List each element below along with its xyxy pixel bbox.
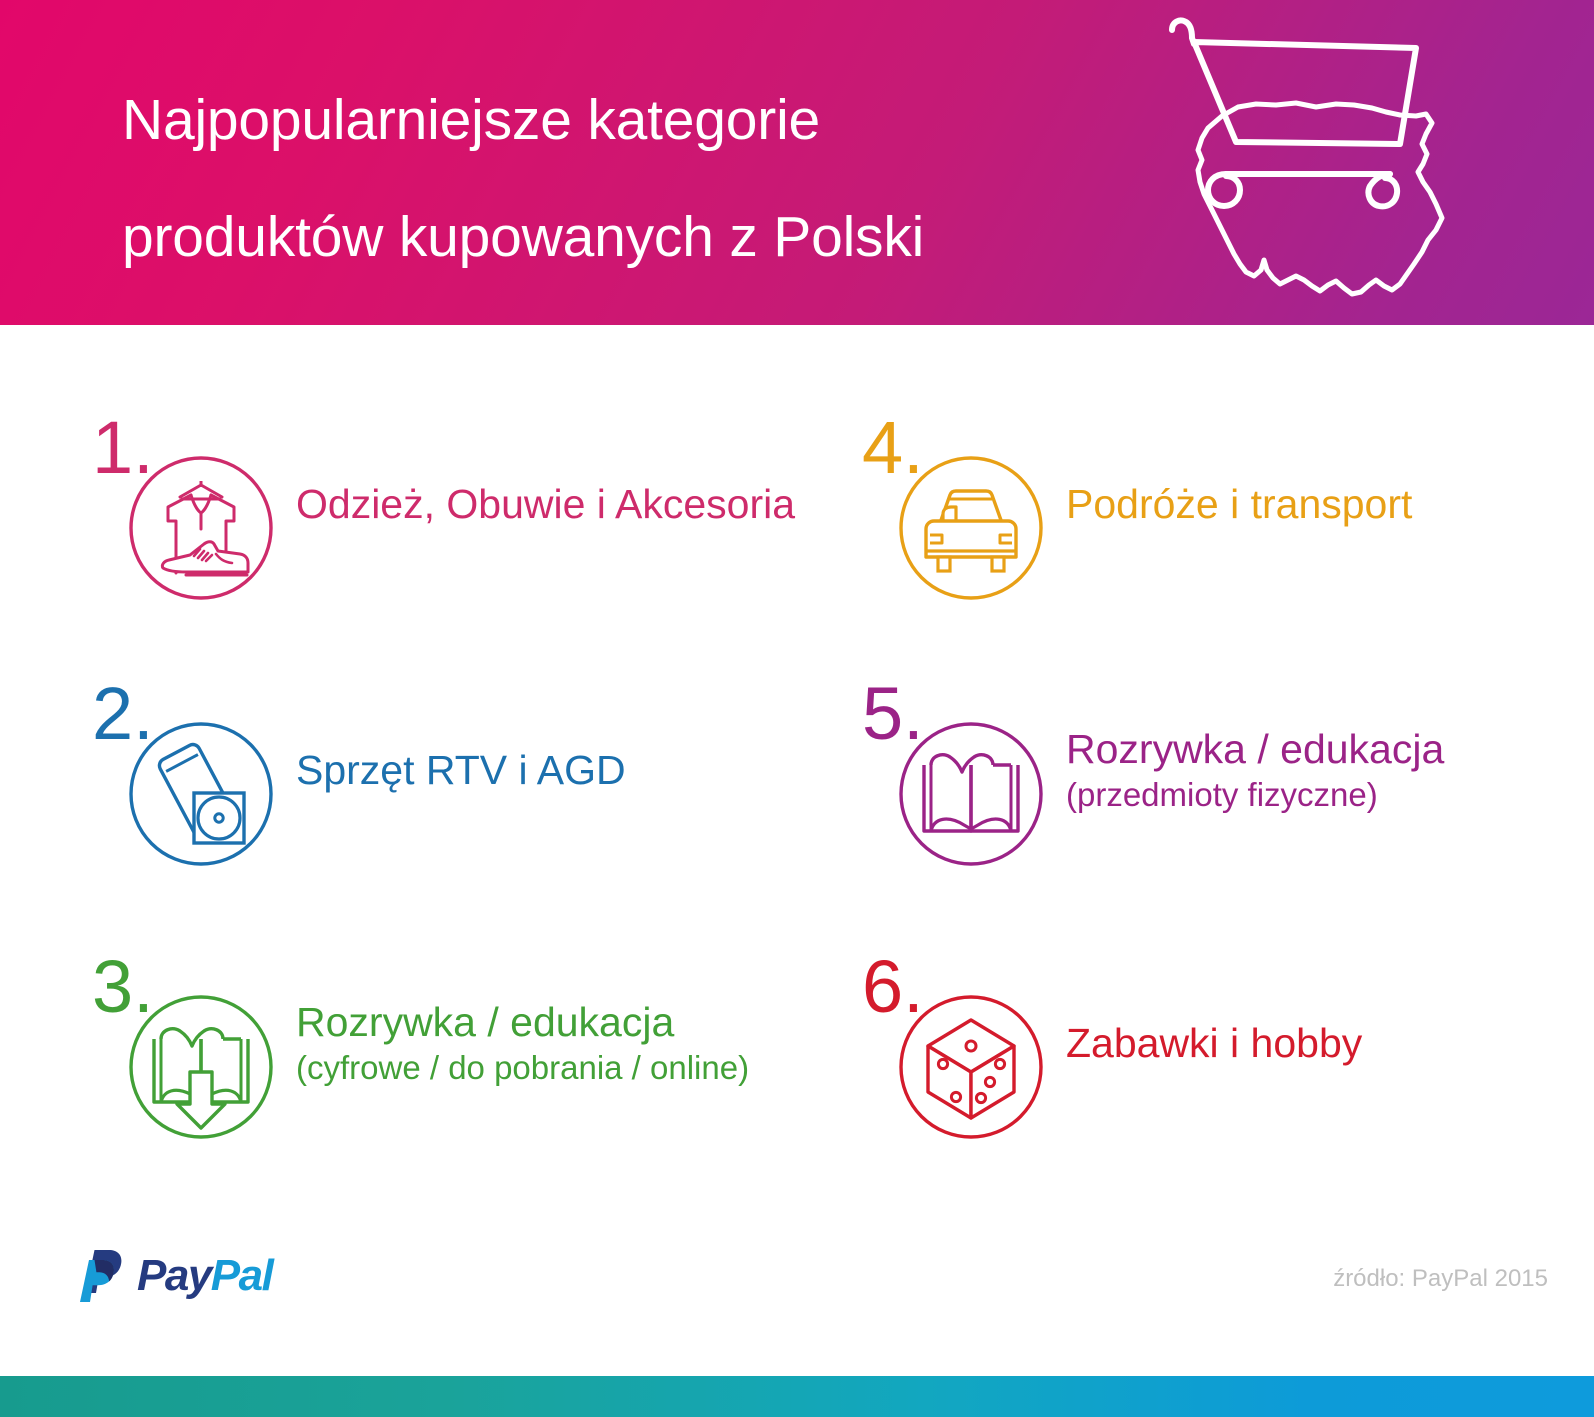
list-item[interactable]: 2. [92,675,852,865]
item-rank: 4. [862,411,924,485]
item-label: Rozrywka / edukacja [1066,725,1594,773]
item-rank: 2. [92,677,154,751]
footer: PayPal źródło: PayPal 2015 [0,1220,1594,1370]
item-rank: 5. [862,677,924,751]
paypal-logo: PayPal [78,1248,272,1304]
paypal-word-pay: Pay [137,1251,211,1300]
list-item[interactable]: 1. [92,409,852,599]
shopping-cart-over-poland-map-icon [1164,8,1454,318]
item-label: Zabawki i hobby [1066,1017,1594,1069]
bottom-accent-bar [0,1376,1594,1417]
list-item[interactable]: 4. [862,409,1594,599]
item-label: Podróże i transport [1066,478,1594,530]
item-badge: 5. [862,675,1052,865]
item-label: Odzież, Obuwie i Akcesoria [296,478,852,530]
item-badge: 2. [92,675,282,865]
item-badge: 6. [862,948,1052,1138]
item-sublabel: (cyfrowe / do pobrania / online) [296,1047,852,1089]
item-badge: 4. [862,409,1052,599]
item-sublabel: (przedmioty fizyczne) [1066,774,1594,816]
header-banner: Najpopularniejsze kategorie produktów ku… [0,0,1594,325]
list-item[interactable]: 6. [862,948,1594,1138]
item-rank: 1. [92,411,154,485]
item-text: Rozrywka / edukacja (przedmioty fizyczne… [1052,725,1594,816]
paypal-double-p-icon [78,1248,128,1304]
item-rank: 3. [92,950,154,1024]
item-text: Podróże i transport [1052,478,1594,530]
item-badge: 3. [92,948,282,1138]
item-text: Odzież, Obuwie i Akcesoria [282,478,852,530]
page-title: Najpopularniejsze kategorie produktów ku… [122,62,1122,296]
item-rank: 6. [862,950,924,1024]
list-item[interactable]: 3. [92,948,852,1138]
paypal-wordmark: PayPal [137,1254,272,1298]
item-text: Zabawki i hobby [1052,1017,1594,1069]
item-label: Sprzęt RTV i AGD [296,744,852,796]
category-list: 1. [0,325,1594,1225]
item-label: Rozrywka / edukacja [296,998,852,1046]
paypal-word-pal: Pal [211,1251,273,1300]
infographic-root: Najpopularniejsze kategorie produktów ku… [0,0,1594,1417]
source-note: źródło: PayPal 2015 [1333,1264,1548,1294]
list-item[interactable]: 5. [862,675,1594,865]
item-text: Sprzęt RTV i AGD [282,744,852,796]
item-text: Rozrywka / edukacja (cyfrowe / do pobran… [282,998,852,1089]
item-badge: 1. [92,409,282,599]
